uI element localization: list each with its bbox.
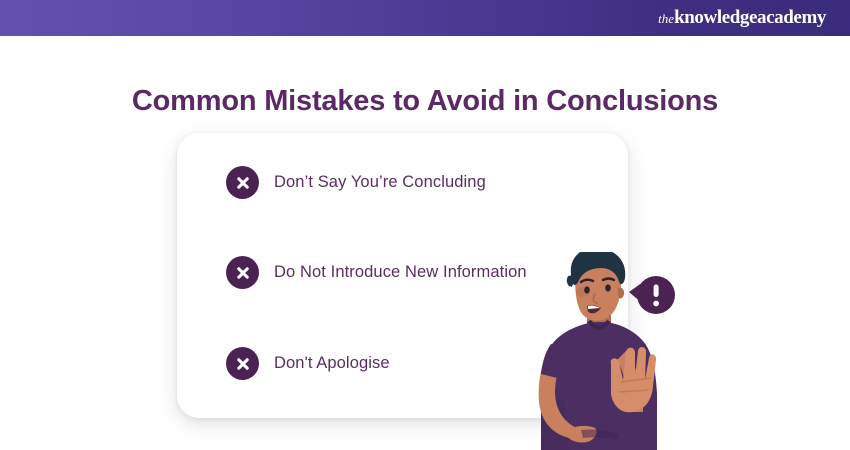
page-title: Common Mistakes to Avoid in Conclusions	[0, 85, 850, 118]
header-band: theknowledgeacademy	[0, 0, 850, 36]
exclamation-mark-dot	[653, 301, 659, 307]
exclamation-mark-stem	[654, 285, 659, 298]
brand-the-text: the	[658, 11, 674, 26]
brand-knowledge-text: knowledge	[674, 7, 757, 28]
list-item-label: Do Not Introduce New Information	[274, 263, 527, 282]
hair-sideburn	[567, 276, 572, 287]
list-item: Don’t Say You’re Concluding	[226, 166, 486, 199]
list-item: Do Not Introduce New Information	[226, 256, 527, 289]
eye-right	[605, 284, 611, 291]
x-circle-icon	[226, 347, 259, 380]
ear	[618, 288, 624, 299]
list-item-label: Don't Apologise	[274, 354, 390, 373]
brand-academy-text: academy	[757, 7, 826, 28]
x-circle-icon	[226, 256, 259, 289]
x-circle-icon	[226, 166, 259, 199]
list-item-label: Don’t Say You’re Concluding	[274, 173, 486, 192]
man-stop-gesture-illustration	[525, 252, 705, 450]
list-item: Don't Apologise	[226, 347, 390, 380]
brand-logo: theknowledgeacademy	[658, 7, 826, 29]
eye-left	[584, 286, 590, 293]
